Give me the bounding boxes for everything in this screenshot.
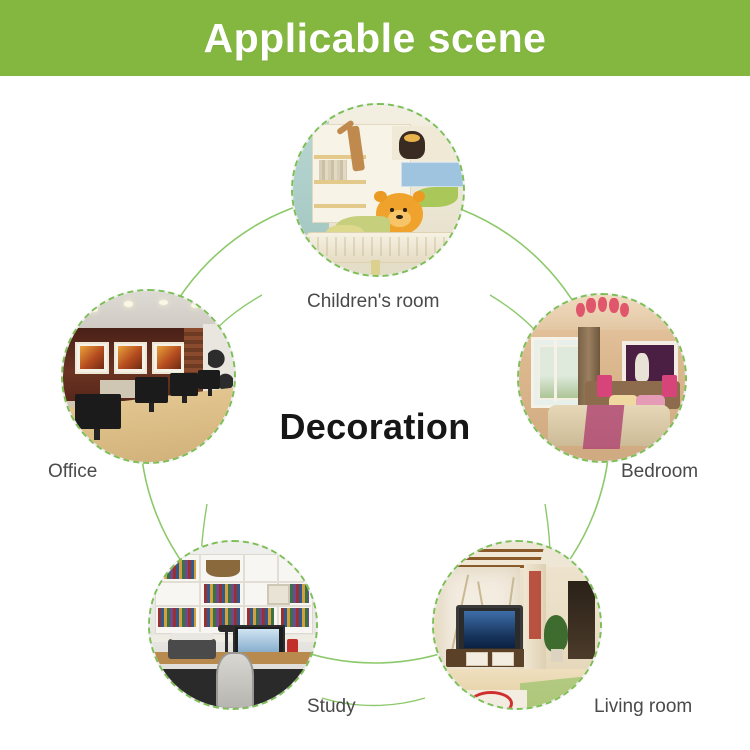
scene-image-study[interactable] xyxy=(148,540,318,710)
diagram-stage: Children's room xyxy=(0,76,750,750)
scene-image-living[interactable] xyxy=(432,540,602,710)
node-label-study: Study xyxy=(307,696,356,718)
living-room-photo xyxy=(432,540,602,710)
living-room-illustration xyxy=(432,540,602,710)
header-banner: Applicable scene xyxy=(0,0,750,76)
applicable-scene-infographic: Applicable scene xyxy=(0,0,750,750)
children-room-photo xyxy=(291,103,465,277)
node-label-living: Living room xyxy=(594,696,692,718)
study-illustration xyxy=(148,540,318,710)
center-label: Decoration xyxy=(0,406,750,448)
node-label-bedroom: Bedroom xyxy=(621,461,698,483)
scene-image-children[interactable] xyxy=(291,103,465,277)
page-title: Applicable scene xyxy=(204,18,547,59)
kids-room-illustration xyxy=(291,103,465,277)
node-label-children: Children's room xyxy=(307,291,439,313)
node-label-office: Office xyxy=(48,461,97,483)
study-photo xyxy=(148,540,318,710)
